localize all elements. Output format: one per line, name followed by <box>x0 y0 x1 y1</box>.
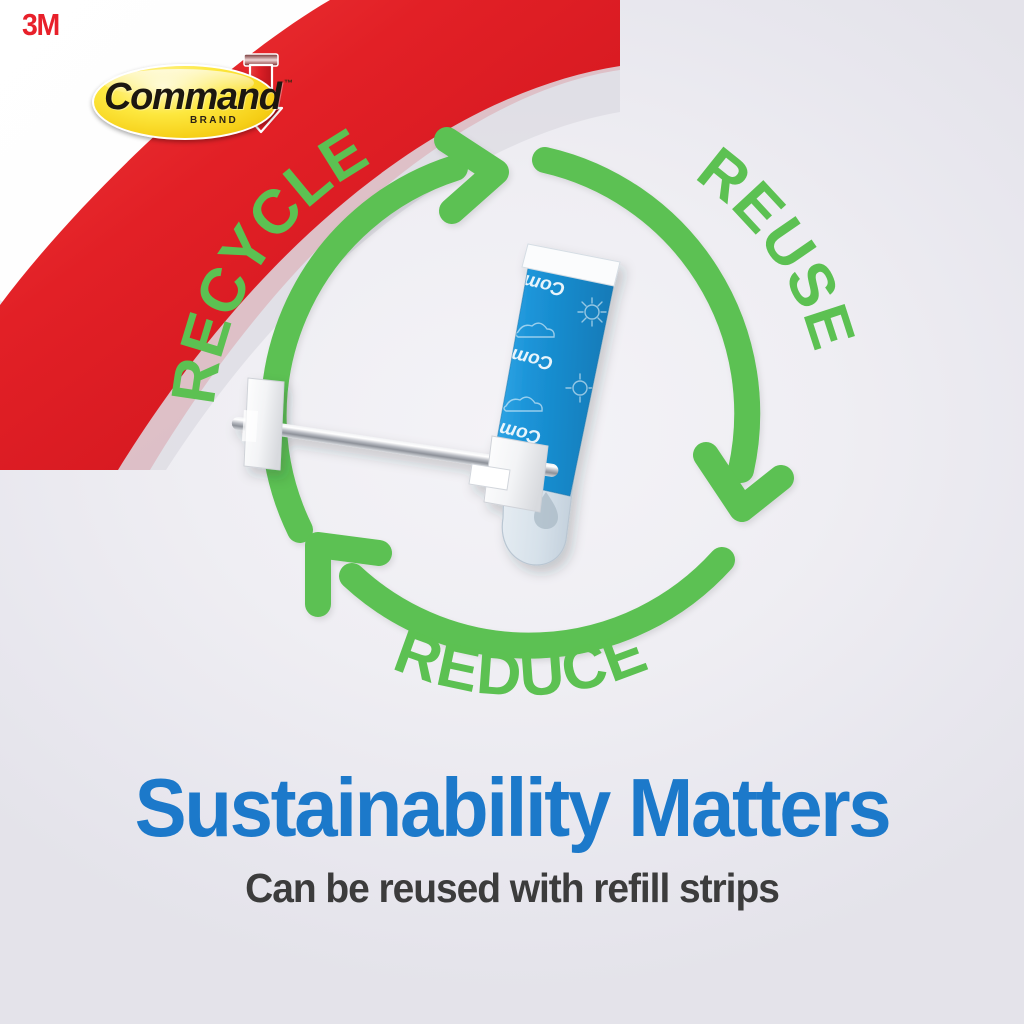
page-subtitle: Can be reused with refill strips <box>26 867 999 910</box>
promo-graphic-canvas: 3M Command BRAND ™ <box>0 0 1024 1024</box>
product-photo: 3M Command Command Command <box>210 240 680 600</box>
headline-block: Sustainability Matters Can be reused wit… <box>0 766 1024 910</box>
page-title: Sustainability Matters <box>31 766 994 851</box>
cycle-label-reduce: REDUCE <box>386 617 656 710</box>
cycle-label-reuse: REUSE <box>685 134 868 358</box>
product-assembly: 3M Command Command Command <box>231 244 620 565</box>
